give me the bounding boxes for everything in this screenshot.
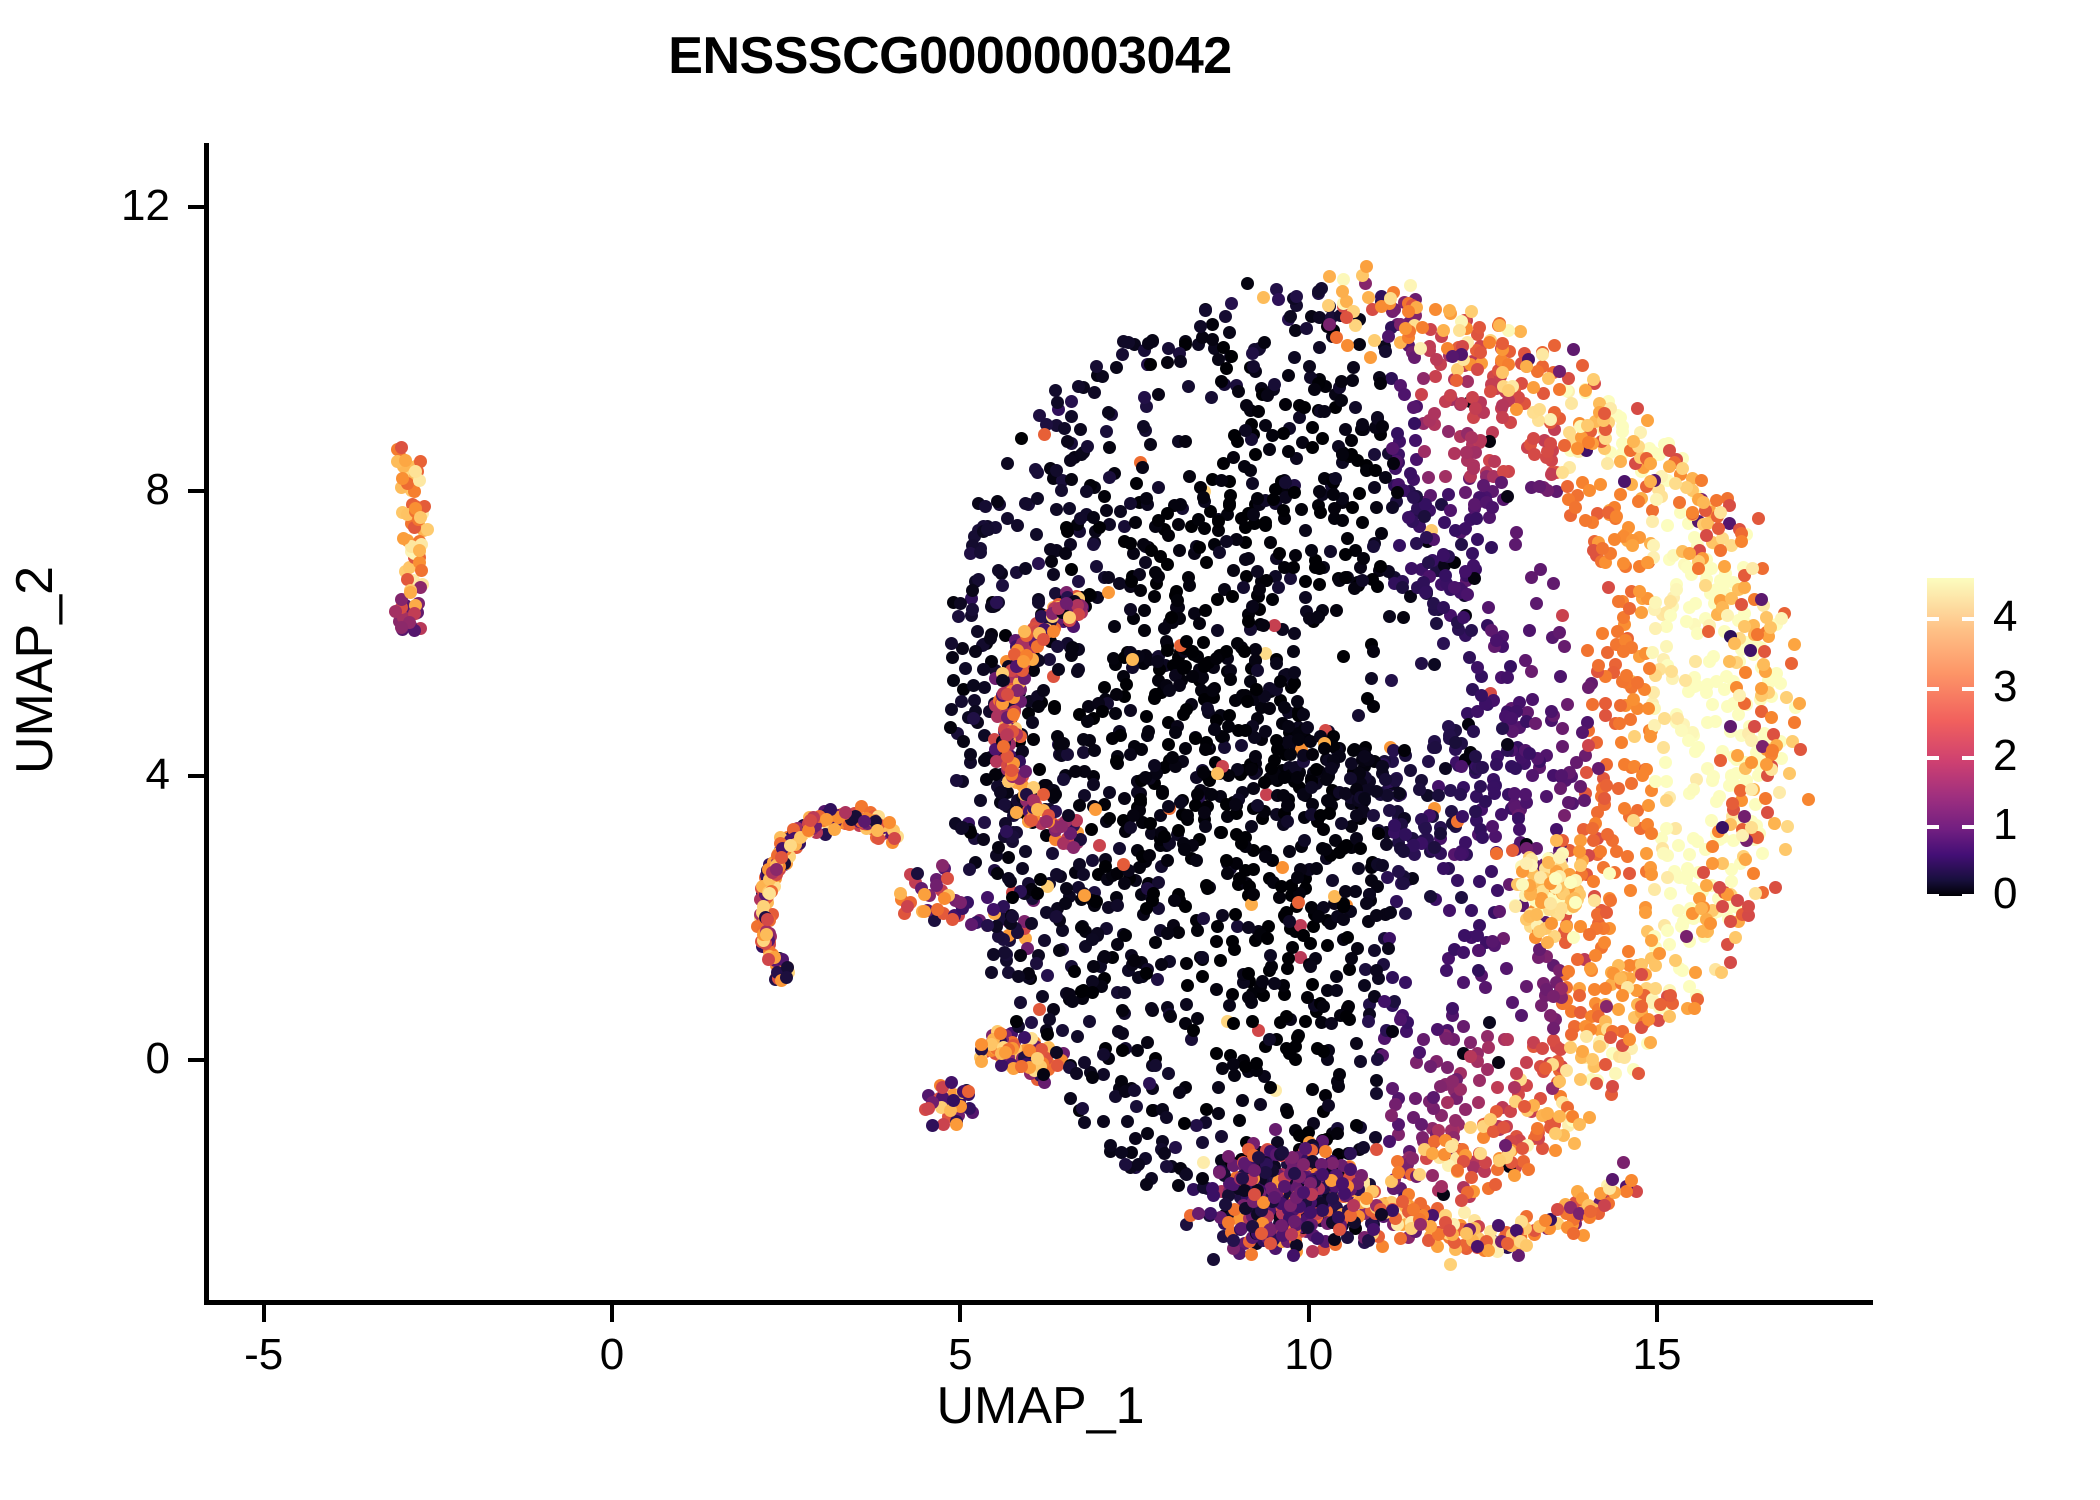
scatter-point [1594, 845, 1607, 858]
scatter-point [1379, 773, 1392, 786]
scatter-point [395, 621, 408, 634]
scatter-point [1379, 345, 1392, 358]
scatter-point [1548, 339, 1561, 352]
scatter-point [1382, 330, 1395, 343]
scatter-point [1080, 485, 1093, 498]
scatter-point [1531, 1122, 1544, 1135]
scatter-point [1265, 762, 1278, 775]
scatter-point [1047, 568, 1060, 581]
colorbar-tick-mark [1927, 756, 1939, 760]
scatter-point [1140, 1178, 1153, 1191]
scatter-point [1161, 644, 1174, 657]
scatter-point [1073, 799, 1086, 812]
scatter-point [1354, 842, 1367, 855]
scatter-point [1304, 1206, 1317, 1219]
scatter-point [1422, 471, 1435, 484]
scatter-point [1593, 1040, 1606, 1053]
scatter-point [1283, 845, 1296, 858]
scatter-point [1622, 945, 1635, 958]
scatter-point [1014, 949, 1027, 962]
scatter-point [1212, 515, 1225, 528]
scatter-point [1210, 652, 1223, 665]
scatter-point [964, 748, 977, 761]
colorbar-tick-mark [1927, 825, 1939, 829]
scatter-point [1422, 755, 1435, 768]
scatter-point [1413, 1168, 1426, 1181]
scatter-point [1207, 1189, 1220, 1202]
scatter-point [1556, 722, 1569, 735]
scatter-point [1149, 1059, 1162, 1072]
scatter-point [1676, 462, 1689, 475]
scatter-point [1367, 540, 1380, 553]
scatter-point [1251, 799, 1264, 812]
scatter-point [1246, 477, 1259, 490]
scatter-point [1506, 996, 1519, 1009]
scatter-point [1326, 874, 1339, 887]
scatter-point [762, 953, 775, 966]
scatter-point [1287, 1249, 1300, 1262]
scatter-point [1779, 843, 1792, 856]
scatter-point [1429, 741, 1442, 754]
x-tick-mark [958, 1305, 962, 1322]
scatter-point [1368, 481, 1381, 494]
scatter-point [1169, 1141, 1182, 1154]
scatter-point [1510, 1067, 1523, 1080]
scatter-point [1574, 780, 1587, 793]
scatter-point [1211, 624, 1224, 637]
scatter-point [1235, 739, 1248, 752]
scatter-point [1344, 1147, 1357, 1160]
scatter-point [1660, 640, 1673, 653]
scatter-point [1714, 754, 1727, 767]
scatter-point [1288, 486, 1301, 499]
scatter-point [1703, 655, 1716, 668]
scatter-point [1335, 817, 1348, 830]
scatter-point [1589, 949, 1602, 962]
scatter-point [1427, 1091, 1440, 1104]
scatter-point [1074, 423, 1087, 436]
scatter-point [1471, 363, 1484, 376]
scatter-point [1626, 539, 1639, 552]
scatter-point [1645, 868, 1658, 881]
scatter-point [945, 1076, 958, 1089]
scatter-point [1702, 625, 1715, 638]
x-tick-label: 10 [1239, 1330, 1379, 1380]
scatter-point [1323, 318, 1336, 331]
scatter-point [1612, 782, 1625, 795]
scatter-point [1197, 636, 1210, 649]
scatter-point [1386, 1082, 1399, 1095]
scatter-point [1680, 615, 1693, 628]
scatter-point [1041, 969, 1054, 982]
scatter-point [1001, 457, 1014, 470]
scatter-point [1635, 968, 1648, 981]
scatter-point [1558, 809, 1571, 822]
scatter-point [1076, 1102, 1089, 1115]
scatter-point [1259, 519, 1272, 532]
scatter-point [1414, 342, 1427, 355]
scatter-point [1081, 715, 1094, 728]
scatter-point [1584, 962, 1597, 975]
scatter-point [1370, 501, 1383, 514]
scatter-point [1596, 542, 1609, 555]
scatter-point [1172, 1179, 1185, 1192]
colorbar-label: 0 [1993, 872, 2017, 916]
scatter-point [1190, 854, 1203, 867]
scatter-point [1049, 788, 1062, 801]
scatter-point [956, 642, 969, 655]
scatter-point [1553, 365, 1566, 378]
scatter-point [1229, 908, 1242, 921]
scatter-point [1118, 986, 1131, 999]
scatter-point [1501, 490, 1514, 503]
scatter-point [1526, 693, 1539, 706]
scatter-point [1457, 946, 1470, 959]
scatter-point [1375, 1208, 1388, 1221]
scatter-point [1227, 1017, 1240, 1030]
scatter-point [1519, 788, 1532, 801]
scatter-point [780, 971, 793, 984]
scatter-point [1489, 1178, 1502, 1191]
colorbar-gradient [1927, 578, 1974, 896]
scatter-point [1196, 1136, 1209, 1149]
scatter-point [1340, 311, 1353, 324]
scatter-point [1689, 745, 1702, 758]
scatter-point [1169, 726, 1182, 739]
scatter-point [1716, 821, 1729, 834]
scatter-point [1429, 370, 1442, 383]
scatter-point [1544, 897, 1557, 910]
scatter-point [1252, 405, 1265, 418]
scatter-point [1793, 697, 1806, 710]
scatter-point [1326, 1157, 1339, 1170]
scatter-point [1299, 1142, 1312, 1155]
scatter-point [1137, 420, 1150, 433]
scatter-point [996, 579, 1009, 592]
scatter-point [1312, 910, 1325, 923]
scatter-point [1046, 847, 1059, 860]
scatter-point [1738, 581, 1751, 594]
scatter-point [1050, 910, 1063, 923]
scatter-point [1756, 847, 1769, 860]
scatter-point [1006, 891, 1019, 904]
scatter-point [1735, 535, 1748, 548]
scatter-point [1228, 1069, 1241, 1082]
scatter-point [1033, 1003, 1046, 1016]
scatter-point [1140, 710, 1153, 723]
scatter-point [1642, 799, 1655, 812]
scatter-point [1394, 1013, 1407, 1026]
scatter-point [395, 441, 408, 454]
scatter-point [1388, 819, 1401, 832]
scatter-point [1144, 358, 1157, 371]
scatter-point [918, 888, 931, 901]
scatter-point [1229, 798, 1242, 811]
scatter-point [1282, 720, 1295, 733]
scatter-point [1138, 604, 1151, 617]
scatter-point [1688, 1002, 1701, 1015]
scatter-point [1579, 514, 1592, 527]
scatter-point [974, 546, 987, 559]
scatter-point [1226, 590, 1239, 603]
scatter-point [1162, 529, 1175, 542]
scatter-point [1164, 1010, 1177, 1023]
colorbar-tick-mark [1962, 825, 1974, 829]
scatter-point [1644, 457, 1657, 470]
scatter-point [1298, 401, 1311, 414]
scatter-point [1554, 782, 1567, 795]
y-tick-mark [188, 205, 204, 209]
scatter-point [1495, 476, 1508, 489]
scatter-point [1078, 1056, 1091, 1069]
scatter-point [1306, 421, 1319, 434]
x-tick-mark [262, 1305, 266, 1322]
scatter-point [1529, 717, 1542, 730]
scatter-point [1319, 1145, 1332, 1158]
scatter-point [1660, 794, 1673, 807]
scatter-point [1281, 1106, 1294, 1119]
scatter-point [1119, 1158, 1132, 1171]
scatter-point [1598, 792, 1611, 805]
scatter-point [1151, 655, 1164, 668]
scatter-point [1541, 936, 1554, 949]
scatter-point [1140, 902, 1153, 915]
scatter-point [1161, 356, 1174, 369]
scatter-point [1249, 448, 1262, 461]
scatter-point [1103, 441, 1116, 454]
scatter-point [1132, 1158, 1145, 1171]
scatter-point [1729, 931, 1742, 944]
scatter-point [1405, 562, 1418, 575]
scatter-point [1066, 995, 1079, 1008]
scatter-point [1469, 750, 1482, 763]
scatter-point [1071, 1030, 1084, 1043]
scatter-point [1339, 548, 1352, 561]
scatter-point [974, 794, 987, 807]
scatter-point [1484, 385, 1497, 398]
plot-panel [208, 143, 1873, 1302]
scatter-point [1162, 342, 1175, 355]
scatter-point [1183, 470, 1196, 483]
scatter-point [1544, 437, 1557, 450]
scatter-point [1360, 897, 1373, 910]
scatter-point [1443, 904, 1456, 917]
scatter-point [1599, 697, 1612, 710]
scatter-point [1556, 609, 1569, 622]
scatter-point [1228, 429, 1241, 442]
scatter-point [1454, 788, 1467, 801]
scatter-point [1718, 560, 1731, 573]
scatter-point [1072, 575, 1085, 588]
scatter-point [1278, 771, 1291, 784]
scatter-point [1277, 789, 1290, 802]
scatter-point [1624, 884, 1637, 897]
scatter-point [1614, 699, 1627, 712]
scatter-point [1200, 556, 1213, 569]
scatter-point [1549, 1144, 1562, 1157]
scatter-point [1281, 962, 1294, 975]
scatter-point [770, 863, 783, 876]
scatter-point [1428, 658, 1441, 671]
umap-feature-plot: ENSSSCG00000003042 04812 -5051015 UMAP_1… [0, 0, 2100, 1500]
scatter-point [1658, 712, 1671, 725]
scatter-point [763, 887, 776, 900]
scatter-point [1594, 478, 1607, 491]
scatter-point [1312, 285, 1325, 298]
scatter-point [1148, 590, 1161, 603]
scatter-point [1247, 508, 1260, 521]
scatter-point [1446, 1075, 1459, 1088]
scatter-point [1404, 279, 1417, 292]
scatter-point [1600, 906, 1613, 919]
scatter-point [1688, 531, 1701, 544]
scatter-point [1644, 1036, 1657, 1049]
scatter-point [1316, 432, 1329, 445]
scatter-point [1471, 1240, 1484, 1253]
x-tick-mark [1655, 1305, 1659, 1322]
scatter-point [977, 663, 990, 676]
colorbar-legend: 43210 [1927, 578, 1974, 896]
scatter-point [1030, 528, 1043, 541]
scatter-point [1362, 291, 1375, 304]
scatter-point [1482, 601, 1495, 614]
scatter-point [1367, 645, 1380, 658]
scatter-point [1653, 947, 1666, 960]
scatter-point [1341, 931, 1354, 944]
scatter-point [1802, 793, 1815, 806]
scatter-point [1500, 962, 1513, 975]
scatter-point [1545, 705, 1558, 718]
scatter-point [1664, 609, 1677, 622]
scatter-point [1078, 889, 1091, 902]
scatter-point [1313, 341, 1326, 354]
scatter-point [1142, 725, 1155, 738]
scatter-point [1331, 1127, 1344, 1140]
scatter-point [1180, 1168, 1193, 1181]
scatter-point [397, 532, 410, 545]
scatter-point [1367, 809, 1380, 822]
scatter-point [1686, 506, 1699, 519]
scatter-point [1197, 766, 1210, 779]
scatter-point [1370, 1074, 1383, 1087]
colorbar-tick-mark [1927, 894, 1939, 898]
scatter-point [1245, 1248, 1258, 1261]
scatter-point [1356, 516, 1369, 529]
scatter-point [1393, 787, 1406, 800]
scatter-point [1162, 1067, 1175, 1080]
scatter-point [1194, 320, 1207, 333]
scatter-point [1304, 960, 1317, 973]
scatter-point [1642, 702, 1655, 715]
scatter-point [1177, 662, 1190, 675]
scatter-point [1424, 1060, 1437, 1073]
scatter-point [1223, 499, 1236, 512]
scatter-point [1103, 786, 1116, 799]
scatter-point [1510, 526, 1523, 539]
scatter-point [1515, 1009, 1528, 1022]
scatter-point [1199, 304, 1212, 317]
scatter-point [1775, 612, 1788, 625]
scatter-point [1124, 821, 1137, 834]
scatter-point [1199, 820, 1212, 833]
scatter-point [1495, 808, 1508, 821]
scatter-point [1679, 674, 1692, 687]
scatter-point [1326, 1192, 1339, 1205]
scatter-point [1196, 970, 1209, 983]
scatter-point [1475, 689, 1488, 702]
scatter-point [1569, 501, 1582, 514]
scatter-point [1426, 1169, 1439, 1182]
scatter-point [1126, 653, 1139, 666]
scatter-point [1554, 670, 1567, 683]
scatter-point [1030, 957, 1043, 970]
scatter-point [1099, 860, 1112, 873]
scatter-point [1539, 1214, 1552, 1227]
scatter-point [1660, 620, 1673, 633]
scatter-point [1706, 698, 1719, 711]
scatter-point [1335, 394, 1348, 407]
scatter-point [1098, 490, 1111, 503]
scatter-point [1257, 619, 1270, 632]
scatter-point [1664, 887, 1677, 900]
scatter-point [1657, 741, 1670, 754]
scatter-point [1661, 871, 1674, 884]
scatter-point [1692, 562, 1705, 575]
scatter-point [1272, 293, 1285, 306]
scatter-point [1346, 374, 1359, 387]
scatter-point [1670, 583, 1683, 596]
scatter-point [1640, 847, 1653, 860]
scatter-point [1413, 783, 1426, 796]
scatter-point [1413, 1046, 1426, 1059]
scatter-point [1266, 429, 1279, 442]
scatter-point [1108, 620, 1121, 633]
scatter-point [1121, 1115, 1134, 1128]
scatter-point [1407, 401, 1420, 414]
scatter-point [1587, 875, 1600, 888]
scatter-point [1045, 555, 1058, 568]
scatter-point [1015, 432, 1028, 445]
scatter-point [1392, 865, 1405, 878]
colorbar-tick-mark [1962, 617, 1974, 621]
scatter-point [1549, 1127, 1562, 1140]
scatter-point [1536, 348, 1549, 361]
scatter-point [1183, 579, 1196, 592]
scatter-point [1451, 1164, 1464, 1177]
scatter-point [1613, 717, 1626, 730]
scatter-point [981, 919, 994, 932]
scatter-point [1464, 1036, 1477, 1049]
scatter-point [1205, 391, 1218, 404]
scatter-point [1617, 1156, 1630, 1169]
scatter-point [1158, 1147, 1171, 1160]
scatter-point [977, 833, 990, 846]
scatter-point [1442, 488, 1455, 501]
scatter-point [1291, 771, 1304, 784]
scatter-point [1492, 1056, 1505, 1069]
scatter-point [1207, 1253, 1220, 1266]
scatter-point [1281, 815, 1294, 828]
scatter-point [1783, 767, 1796, 780]
scatter-point [1362, 1234, 1375, 1247]
scatter-point [1579, 384, 1592, 397]
scatter-point [1341, 339, 1354, 352]
scatter-point [1415, 388, 1428, 401]
scatter-point [1683, 848, 1696, 861]
scatter-point [1320, 773, 1333, 786]
scatter-point [1270, 657, 1283, 670]
scatter-point [966, 584, 979, 597]
